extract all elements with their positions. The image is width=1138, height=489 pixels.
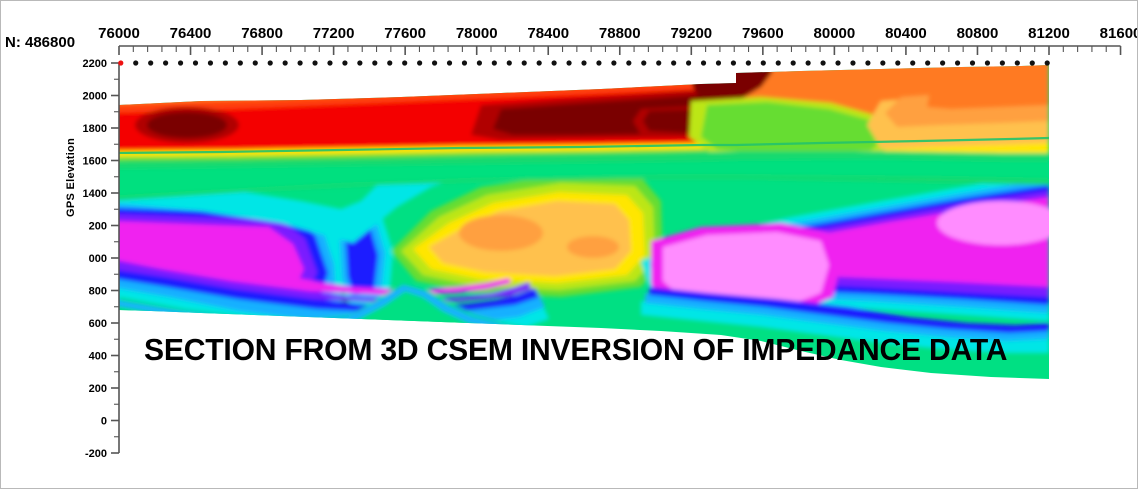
station-marker [701, 60, 706, 65]
station-marker [686, 60, 691, 65]
station-marker [895, 60, 900, 65]
y-tick-label: 800 [89, 286, 107, 298]
station-marker [372, 60, 377, 65]
station-marker [402, 60, 407, 65]
station-marker [1045, 60, 1050, 65]
station-marker [671, 60, 676, 65]
station-marker [910, 60, 915, 65]
station-marker [387, 60, 392, 65]
station-marker [626, 60, 631, 65]
station-marker [925, 60, 930, 65]
station-marker-row [118, 60, 1050, 65]
station-marker [641, 60, 646, 65]
x-tick-label: 79200 [670, 25, 712, 42]
station-marker [432, 60, 437, 65]
x-tick-label: 80800 [957, 25, 999, 42]
station-marker [462, 60, 467, 65]
station-marker [238, 60, 243, 65]
y-tick-label: 200 [89, 383, 107, 395]
station-marker [566, 60, 571, 65]
station-marker [940, 60, 945, 65]
station-marker [820, 60, 825, 65]
figure-canvas: N: 486800 GPS Elevation [0, 0, 1138, 489]
station-marker [223, 60, 228, 65]
station-marker [970, 60, 975, 65]
y-tick-label: 000 [89, 253, 107, 265]
station-marker [507, 60, 512, 65]
station-marker [537, 60, 542, 65]
y-tick-label: 1800 [83, 123, 107, 135]
station-marker [477, 60, 482, 65]
station-marker [327, 60, 332, 65]
x-tick-label: 78400 [527, 25, 569, 42]
x-tick-label: 76000 [98, 25, 140, 42]
station-marker [865, 60, 870, 65]
station-marker [447, 60, 452, 65]
station-marker [1030, 60, 1035, 65]
x-tick-label: 80400 [885, 25, 927, 42]
station-marker [581, 60, 586, 65]
station-marker [552, 60, 557, 65]
station-marker [268, 60, 273, 65]
x-tick-label: 78800 [599, 25, 641, 42]
station-marker [417, 60, 422, 65]
y-tick-label: 2000 [83, 91, 107, 103]
station-marker [283, 60, 288, 65]
x-tick-label: 78000 [456, 25, 498, 42]
station-marker [1015, 60, 1020, 65]
y-tick-label: 1600 [83, 156, 107, 168]
station-marker [357, 60, 362, 65]
y-tick-label: 400 [89, 351, 107, 363]
station-marker [193, 60, 198, 65]
x-tick-label: 77600 [384, 25, 426, 42]
x-tick-label: 76800 [241, 25, 283, 42]
station-marker [163, 60, 168, 65]
section-color-field [111, 56, 1065, 401]
station-marker [133, 60, 138, 65]
y-tick-label: 0 [101, 416, 107, 428]
station-marker [791, 60, 796, 65]
station-marker [611, 60, 616, 65]
station-marker [1000, 60, 1005, 65]
station-marker [850, 60, 855, 65]
station-marker [806, 60, 811, 65]
csem-section-plot: 7600076400768007720077600780007840078800… [1, 1, 1138, 489]
station-marker [312, 60, 317, 65]
x-tick-label: 80000 [814, 25, 856, 42]
station-marker [492, 60, 497, 65]
y-tick-label: 1400 [83, 188, 107, 200]
y-axis: 220020001800160014002000008006004002000-… [83, 58, 119, 460]
y-tick-label: 200 [89, 221, 107, 233]
y-tick-label: 2200 [83, 58, 107, 70]
station-marker [880, 60, 885, 65]
station-marker [746, 60, 751, 65]
station-marker [731, 60, 736, 65]
station-marker [522, 60, 527, 65]
station-marker [297, 60, 302, 65]
x-tick-label: 77200 [313, 25, 355, 42]
station-marker [955, 60, 960, 65]
station-marker [716, 60, 721, 65]
station-marker-first [118, 60, 123, 65]
x-tick-label: 81600 [1100, 25, 1138, 42]
station-marker [208, 60, 213, 65]
station-marker [656, 60, 661, 65]
station-marker [835, 60, 840, 65]
station-marker [148, 60, 153, 65]
y-tick-label: 600 [89, 318, 107, 330]
station-marker [776, 60, 781, 65]
station-marker [985, 60, 990, 65]
station-marker [342, 60, 347, 65]
station-marker [253, 60, 258, 65]
x-tick-label: 76400 [170, 25, 212, 42]
y-tick-label: -200 [85, 448, 107, 460]
station-marker [596, 60, 601, 65]
station-marker [178, 60, 183, 65]
x-axis: 7600076400768007720077600780007840078800… [98, 25, 1138, 55]
station-marker [761, 60, 766, 65]
x-tick-label: 79600 [742, 25, 784, 42]
x-tick-label: 81200 [1028, 25, 1070, 42]
